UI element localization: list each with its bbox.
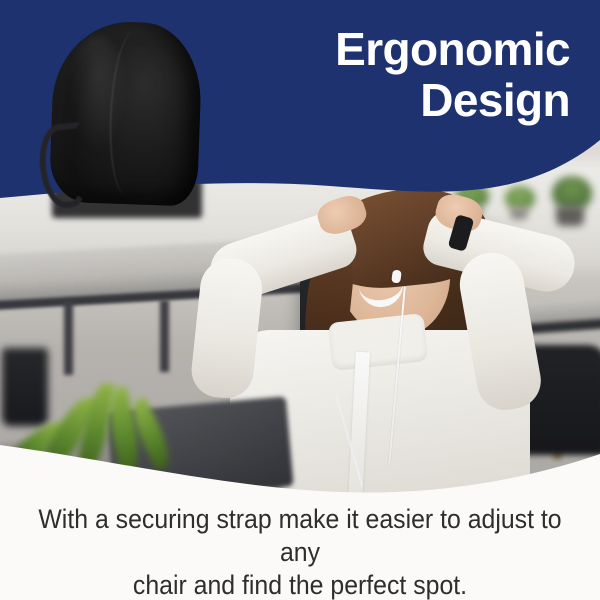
cushion-strap [36,122,91,210]
footer-caption: With a securing strap make it easier to … [24,503,576,600]
desk-leg [160,300,169,372]
page-title: Ergonomic Design [150,24,570,126]
waste-bin [2,348,48,426]
product-marketing-poster: Ergonomic Design With a securing strap m… [0,0,600,600]
desk-leg [64,300,73,375]
blouse-collar [328,313,428,371]
